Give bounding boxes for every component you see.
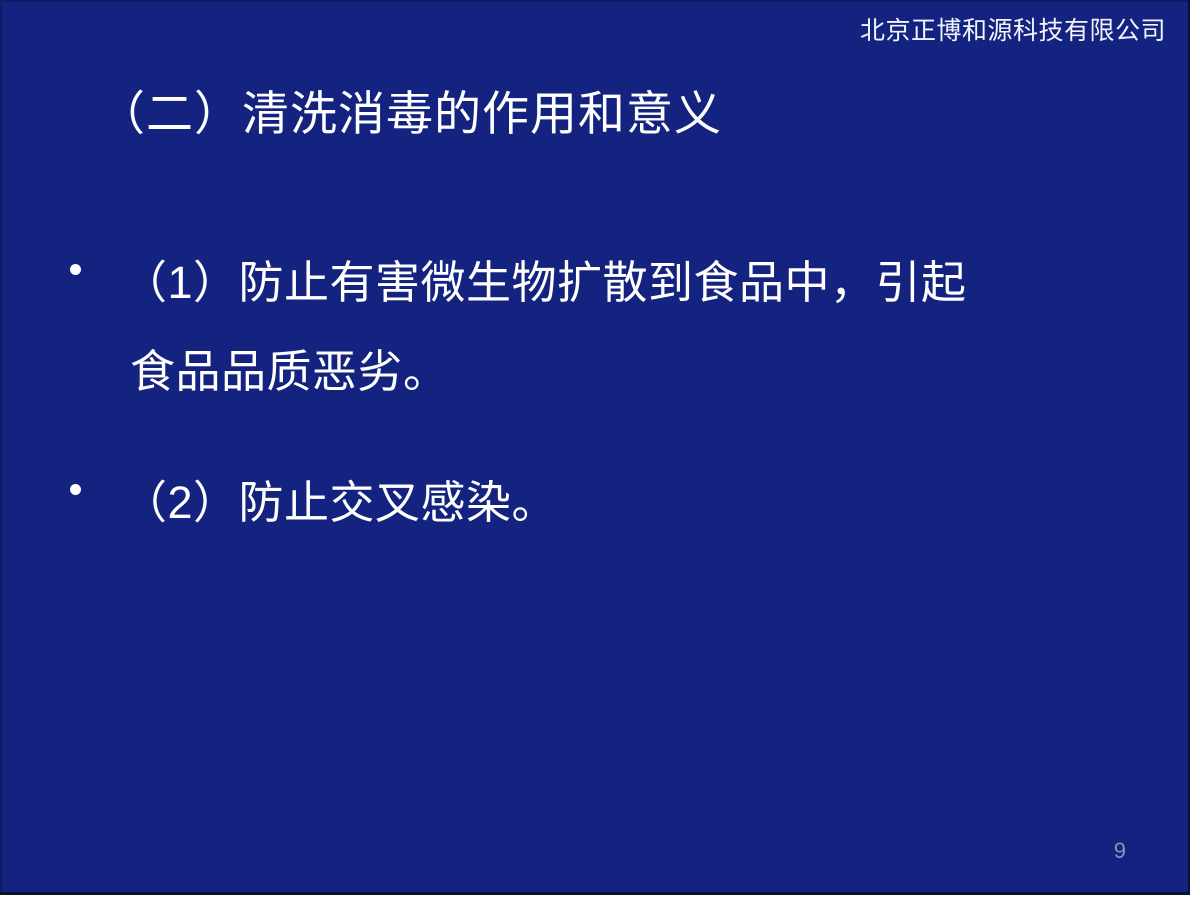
page-number: 9 <box>1114 838 1126 864</box>
bullet-dot-icon <box>70 484 81 495</box>
list-item-text: （2）防止交叉感染。 <box>122 458 1150 547</box>
list-item-line: （2）防止交叉感染。 <box>122 458 1150 547</box>
list-item-line: （1）防止有害微生物扩散到食品中，引起 <box>122 238 1150 327</box>
list-item: （2）防止交叉感染。 <box>60 458 1150 547</box>
slide-left-edge <box>0 0 2 895</box>
list-item-text: （1）防止有害微生物扩散到食品中，引起 食品品质恶劣。 <box>122 238 1150 416</box>
bullet-list: （1）防止有害微生物扩散到食品中，引起 食品品质恶劣。 （2）防止交叉感染。 <box>60 238 1150 589</box>
list-item-line: 食品品质恶劣。 <box>122 327 1150 416</box>
slide-top-edge <box>0 0 1190 2</box>
list-item: （1）防止有害微生物扩散到食品中，引起 食品品质恶劣。 <box>60 238 1150 416</box>
page-title: （二）清洗消毒的作用和意义 <box>98 82 722 146</box>
slide-canvas: 北京正博和源科技有限公司 （二）清洗消毒的作用和意义 （1）防止有害微生物扩散到… <box>0 0 1190 895</box>
bullet-dot-icon <box>70 264 81 275</box>
company-header: 北京正博和源科技有限公司 <box>860 16 1166 46</box>
